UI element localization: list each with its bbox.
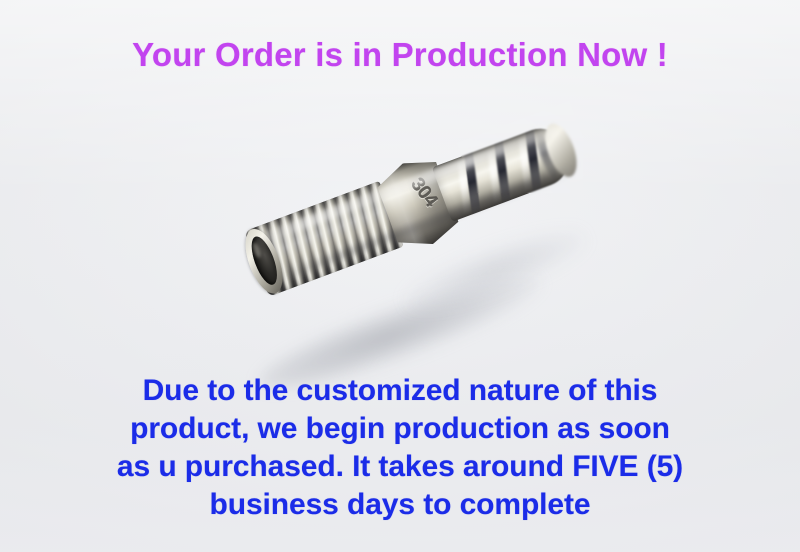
notice-line-2: product, we begin production as soon — [0, 410, 800, 448]
page-title: Your Order is in Production Now ! — [0, 36, 800, 74]
promo-banner: Your Order is in Production Now ! 304 — [0, 0, 800, 552]
notice-line-1: Due to the customized nature of this — [0, 372, 800, 410]
notice-line-4: business days to complete — [0, 486, 800, 524]
production-notice: Due to the customized nature of this pro… — [0, 372, 800, 524]
notice-line-3: as u purchased. It takes around FIVE (5) — [0, 448, 800, 486]
product-photo: 304 — [0, 120, 800, 380]
